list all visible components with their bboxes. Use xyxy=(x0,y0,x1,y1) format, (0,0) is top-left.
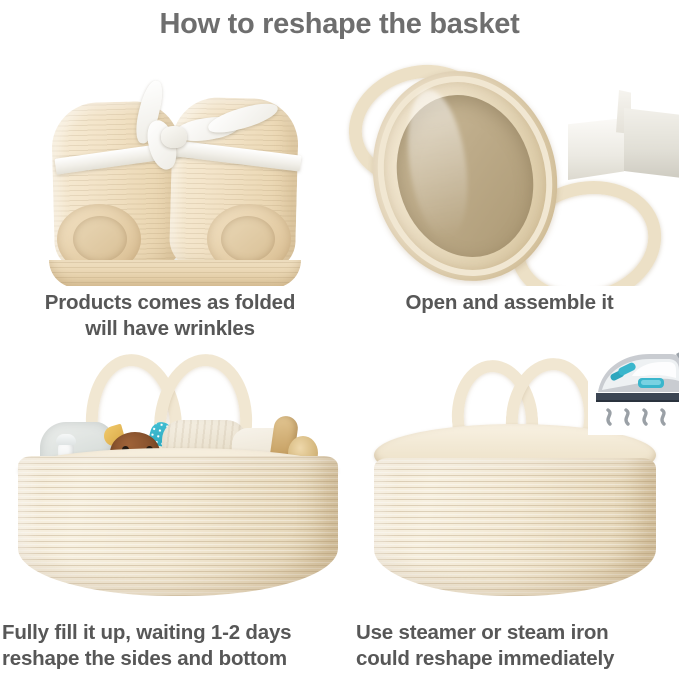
filled-basket-illustration xyxy=(8,352,348,617)
divider-panel-right xyxy=(624,108,679,178)
roll-end-inner-right xyxy=(221,216,275,262)
step-4-caption: Use steamer or steam iron could reshape … xyxy=(356,620,676,672)
step-2: Open and assemble it xyxy=(340,52,679,352)
divider-board xyxy=(568,90,679,198)
ribbon-bow-knot xyxy=(161,126,187,148)
step-2-caption: Open and assemble it xyxy=(340,290,679,316)
baby-bottle-cap xyxy=(56,434,76,445)
open-basket-and-divider-figure xyxy=(340,54,679,286)
folded-basket-base xyxy=(49,260,301,286)
open-basket-illustration xyxy=(340,54,679,286)
step-3-caption: Fully fill it up, waiting 1-2 days resha… xyxy=(2,620,350,672)
steam-iron-icon xyxy=(588,340,679,435)
folded-basket-illustration xyxy=(35,64,310,286)
step-1-caption: Products comes as folded will have wrink… xyxy=(0,290,340,342)
page-title: How to reshape the basket xyxy=(0,4,679,44)
basket-body xyxy=(18,456,338,596)
step-3: Fully fill it up, waiting 1-2 days resha… xyxy=(0,352,350,687)
empty-basket-with-steam-iron-figure xyxy=(360,340,679,620)
steps-grid: Products comes as folded will have wrink… xyxy=(0,52,679,687)
filled-rope-basket-figure xyxy=(8,352,348,617)
folded-basket-with-ribbon-figure xyxy=(35,64,310,286)
step-1: Products comes as folded will have wrink… xyxy=(0,52,340,352)
basket-body xyxy=(374,458,656,596)
roll-end-inner-left xyxy=(73,216,127,262)
step-4: Use steamer or steam iron could reshape … xyxy=(350,352,679,687)
divider-panel-left xyxy=(568,118,624,180)
